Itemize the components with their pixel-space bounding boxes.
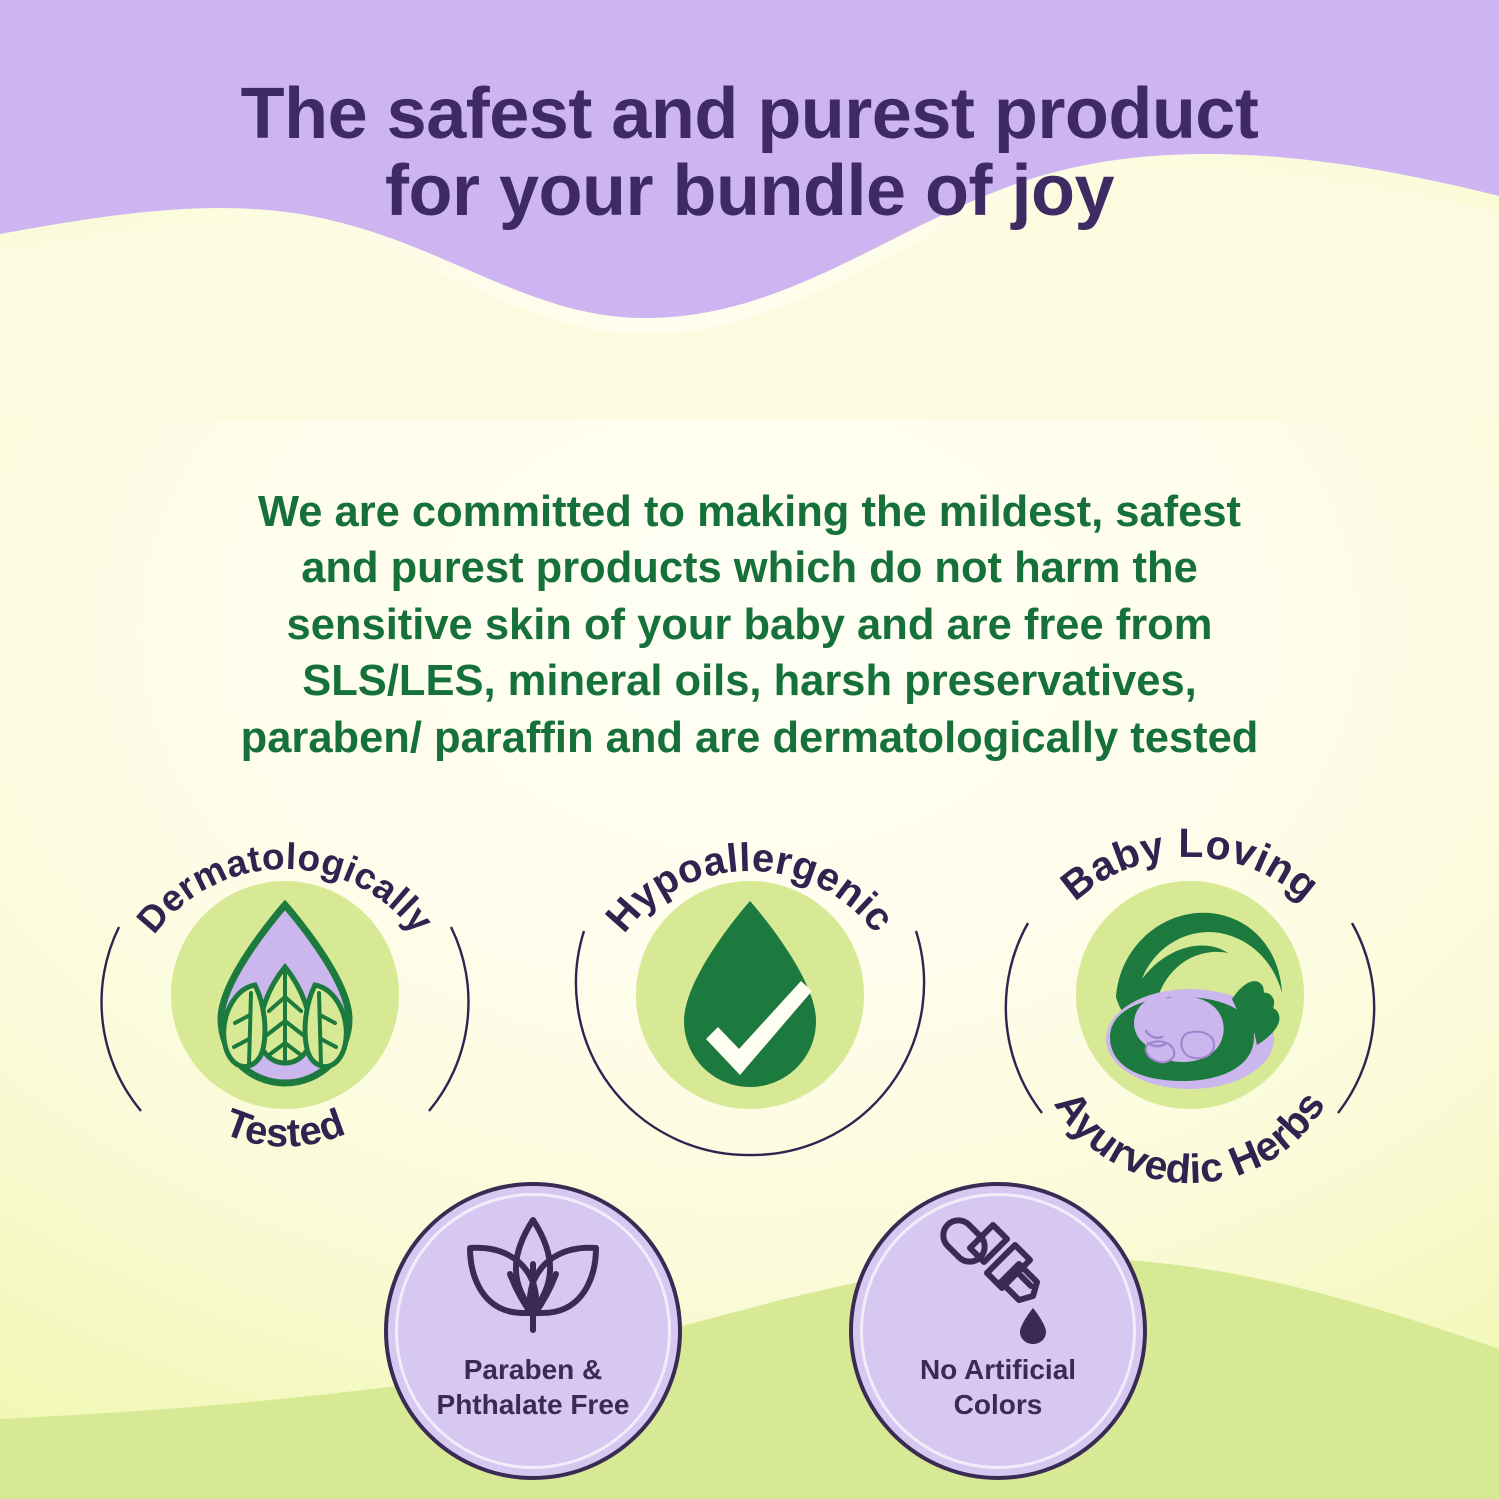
- leaf-droplet-icon: [171, 881, 399, 1109]
- caption-line-2: Phthalate Free: [388, 1387, 678, 1422]
- certification-badge-row: Dermatologically Tested: [0, 795, 1499, 1185]
- intro-line-2: and purest products which do not harm th…: [100, 540, 1399, 597]
- intro-line-1: We are committed to making the mildest, …: [100, 484, 1399, 541]
- badge-no-artificial-colors[interactable]: No Artificial Colors: [849, 1182, 1147, 1480]
- infographic-canvas: The safest and purest product for your b…: [0, 0, 1499, 1499]
- baby-in-leaf-hands-icon: [1076, 881, 1304, 1109]
- lotus-leaves-icon: [458, 1212, 608, 1344]
- badge-baby-loving-ayurvedic-herbs[interactable]: Baby Loving Ayurvedic Herbs: [1000, 795, 1380, 1185]
- droplet-check-icon: [636, 881, 864, 1109]
- arc-guide-left: [1006, 923, 1042, 1113]
- badge-caption: No Artificial Colors: [853, 1352, 1143, 1422]
- intro-line-3: sensitive skin of your baby and are free…: [100, 597, 1399, 654]
- intro-line-4: SLS/LES, mineral oils, harsh preservativ…: [100, 653, 1399, 710]
- dropper-pipette-icon: [923, 1212, 1073, 1344]
- caption-line-1: Paraben &: [388, 1352, 678, 1387]
- badge-hypoallergenic[interactable]: Hypoallergenic: [560, 795, 940, 1185]
- badge-paraben-phthalate-free[interactable]: Paraben & Phthalate Free: [384, 1182, 682, 1480]
- title-line-1: The safest and purest product: [241, 74, 1259, 154]
- badge-caption: Paraben & Phthalate Free: [388, 1352, 678, 1422]
- intro-paragraph: We are committed to making the mildest, …: [100, 484, 1399, 767]
- intro-line-5: paraben/ paraffin and are dermatological…: [100, 710, 1399, 767]
- title-line-2: for your bundle of joy: [0, 153, 1499, 229]
- badge-dermatologically-tested[interactable]: Dermatologically Tested: [95, 795, 475, 1185]
- arc-guide-right: [429, 927, 468, 1111]
- caption-line-1: No Artificial: [853, 1352, 1143, 1387]
- caption-line-2: Colors: [853, 1387, 1143, 1422]
- arc-guide-right: [1338, 923, 1374, 1113]
- arc-guide-left: [102, 927, 141, 1111]
- claims-badge-row: Paraben & Phthalate Free: [0, 1182, 1499, 1499]
- page-title: The safest and purest product for your b…: [0, 76, 1499, 229]
